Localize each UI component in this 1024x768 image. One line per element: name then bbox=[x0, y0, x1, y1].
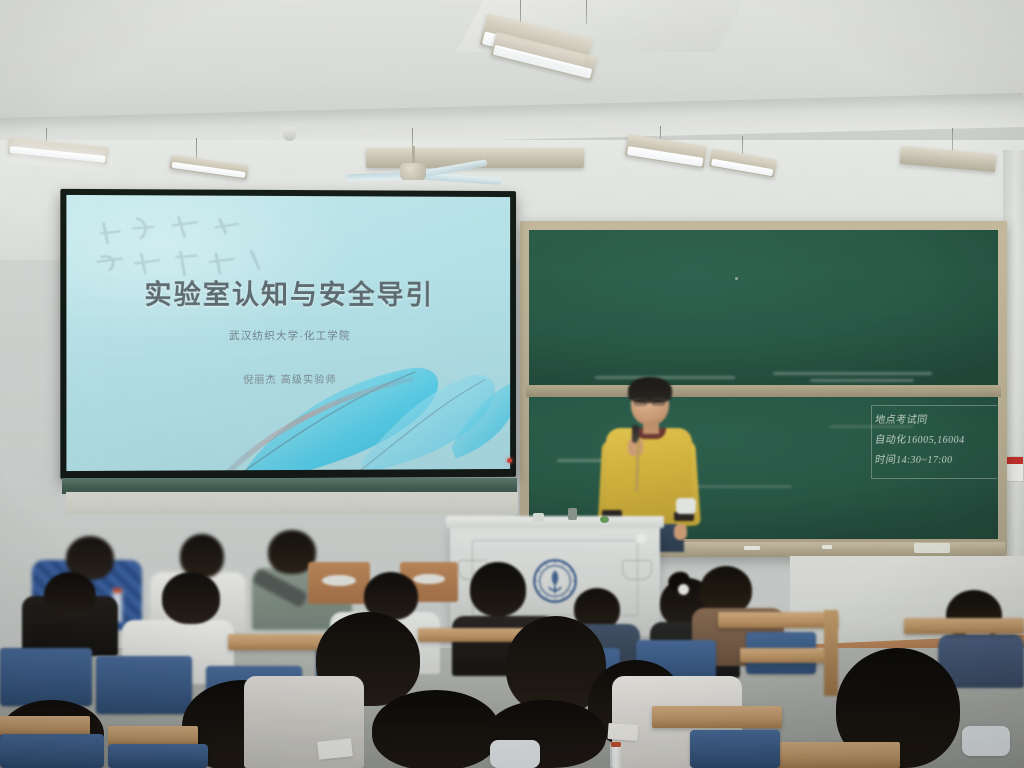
presenter-hand bbox=[674, 524, 687, 540]
desk bbox=[718, 612, 838, 628]
desk bbox=[904, 618, 1024, 634]
chair-back bbox=[0, 648, 92, 706]
chair-back bbox=[96, 656, 192, 714]
student-head bbox=[44, 572, 96, 618]
podium-item bbox=[568, 508, 577, 520]
ceiling-sensor bbox=[283, 127, 296, 141]
desk bbox=[108, 726, 198, 746]
slide-subtitle: 武汉纺织大学·化工学院 bbox=[66, 327, 510, 342]
student-head bbox=[700, 566, 752, 614]
desk-side-panel bbox=[824, 610, 838, 696]
blackboard-upper-panel bbox=[529, 230, 998, 385]
chair-back bbox=[108, 744, 208, 768]
podium-cup-graphic bbox=[622, 560, 652, 580]
university-crest-icon bbox=[532, 558, 578, 604]
blackboard-note-line: 时间14:30~17:00 bbox=[874, 451, 995, 471]
screen-indicator-light bbox=[507, 458, 512, 463]
student-head bbox=[162, 572, 220, 624]
desk bbox=[760, 742, 900, 768]
blackboard-mid-rail bbox=[526, 385, 1001, 397]
hair-tie bbox=[678, 584, 689, 595]
presentation-slide: 实验室认知与安全导引 武汉纺织大学·化工学院 倪丽杰 高级实验师 bbox=[66, 195, 510, 471]
podium-item bbox=[533, 513, 544, 522]
blackboard-note-line: 地点考试同 bbox=[874, 411, 995, 431]
desk bbox=[740, 648, 836, 663]
water-bottle bbox=[610, 742, 622, 768]
student-head bbox=[470, 562, 526, 616]
podium-item-green bbox=[600, 516, 609, 523]
projection-screen: 实验室认知与安全导引 武汉纺织大学·化工学院 倪丽杰 高级实验师 bbox=[60, 189, 516, 479]
feather-graphic bbox=[201, 349, 510, 471]
chair-back bbox=[0, 734, 104, 768]
chalk-ghost-marks bbox=[93, 209, 290, 281]
face-mask bbox=[962, 726, 1010, 756]
light-chain bbox=[586, 0, 587, 24]
face-mask bbox=[490, 740, 540, 768]
paper-note bbox=[317, 738, 353, 759]
paper-note bbox=[607, 723, 638, 741]
blackboard-notes: 地点考试同 自动化16005,16004 时间14:30~17:00 bbox=[875, 411, 993, 473]
glasses-icon bbox=[631, 397, 669, 406]
wood-chair bbox=[308, 562, 370, 604]
blackboard: 地点考试同 自动化16005,16004 时间14:30~17:00 bbox=[520, 221, 1007, 557]
screen-lower-board bbox=[66, 492, 518, 514]
presenter-sleeve-detail bbox=[676, 498, 696, 514]
desk bbox=[0, 716, 90, 736]
classroom-photo: 地点考试同 自动化16005,16004 时间14:30~17:00 bbox=[0, 0, 1024, 768]
projection-screen-surface: 实验室认知与安全导引 武汉纺织大学·化工学院 倪丽杰 高级实验师 bbox=[66, 195, 510, 471]
blackboard-note-line: 自动化16005,16004 bbox=[874, 431, 995, 451]
student-head bbox=[372, 690, 500, 768]
slide-presenter: 倪丽杰 高级实验师 bbox=[66, 371, 510, 387]
desk bbox=[652, 706, 782, 728]
fan-motor bbox=[400, 163, 426, 180]
podium-button[interactable] bbox=[635, 532, 648, 545]
slide-title: 实验室认知与安全导引 bbox=[66, 272, 510, 312]
podium-top bbox=[446, 516, 664, 528]
light-chain bbox=[952, 128, 953, 152]
chair-back bbox=[690, 730, 780, 768]
